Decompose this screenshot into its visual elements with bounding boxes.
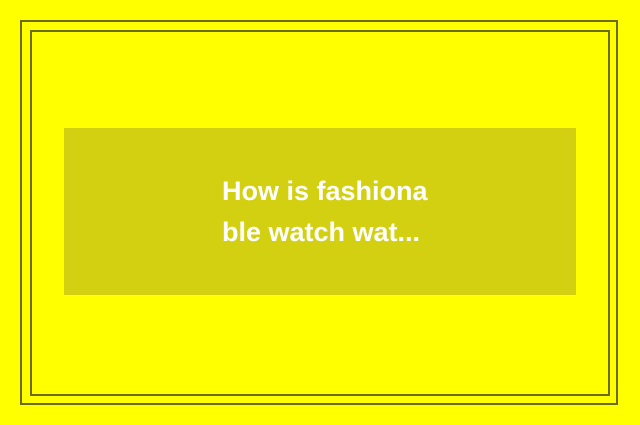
headline-panel: How is fashiona ble watch wat... [64, 128, 576, 295]
headline-line-2: ble watch wat... [222, 212, 420, 253]
image-canvas: How is fashiona ble watch wat... [0, 0, 640, 425]
headline-line-1: How is fashiona [222, 171, 428, 212]
